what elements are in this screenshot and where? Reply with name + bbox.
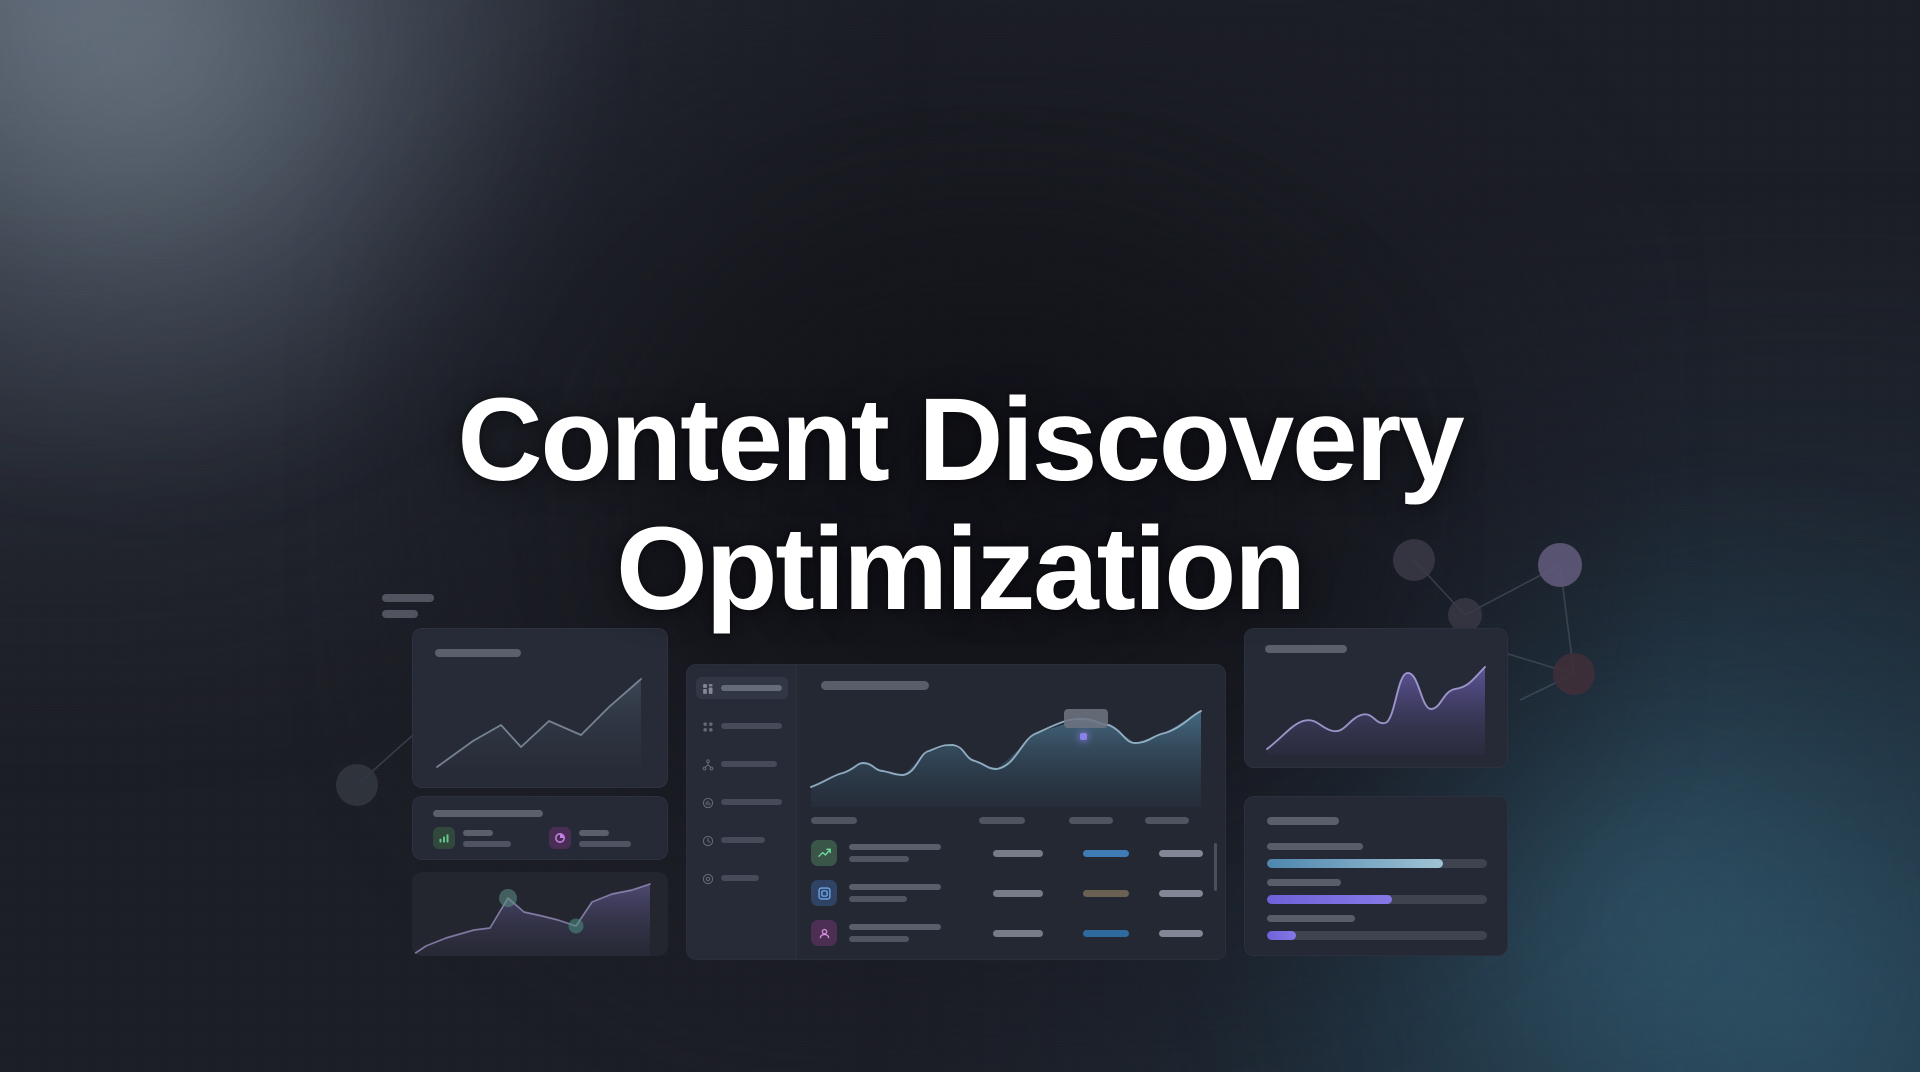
table-cell-2 [1083, 930, 1129, 937]
table-cell-1 [993, 850, 1043, 857]
progress-item-2-track [1267, 895, 1487, 904]
apps-grid-icon [702, 720, 714, 732]
dashboard-sidebar [687, 665, 797, 959]
table-row-subtitle [849, 896, 907, 902]
floating-skeleton-bar-1 [382, 594, 434, 602]
table-header-4 [1145, 817, 1189, 824]
main-dashboard-panel[interactable] [686, 664, 1226, 960]
table-row[interactable] [811, 871, 1215, 915]
sidebar-item-analytics-label [721, 799, 782, 805]
table-row[interactable] [811, 951, 1215, 960]
progress-item-1-fill [1267, 859, 1443, 868]
sidebar-item-apps[interactable] [696, 715, 788, 737]
stat-metric-1[interactable] [433, 827, 511, 849]
progress-item-1-track [1267, 859, 1487, 868]
table-cell-1 [993, 930, 1043, 937]
dashboard-mockup [0, 0, 1920, 1072]
sidebar-item-dashboard[interactable] [696, 677, 788, 699]
progress-item-3[interactable] [1267, 915, 1487, 940]
progress-item-2-label [1267, 879, 1341, 886]
pie-chart-icon [549, 827, 571, 849]
trending-up-icon [811, 840, 837, 866]
sidebar-item-history[interactable] [696, 829, 788, 851]
stat-metric-2[interactable] [549, 827, 631, 849]
vertical-scrollbar[interactable] [1214, 843, 1217, 891]
bar-chart-icon [433, 827, 455, 849]
sidebar-item-settings[interactable] [696, 867, 788, 889]
left-stats-card[interactable] [412, 796, 668, 860]
table-row-title [849, 884, 941, 890]
table-row-subtitle [849, 856, 909, 862]
chart-highlight-point[interactable] [1080, 733, 1087, 740]
content-header-placeholder [821, 681, 929, 690]
dashboard-grid-icon [702, 682, 714, 694]
progress-item-2-fill [1267, 895, 1392, 904]
right-progress-card-title-placeholder [1267, 817, 1339, 825]
stat-metric-1-lines [463, 830, 511, 847]
table-row-text [849, 844, 941, 862]
user-target-icon [811, 920, 837, 946]
left-chart-card[interactable] [412, 628, 668, 788]
stat-metric-2-label [579, 830, 609, 836]
table-row-title [849, 844, 941, 850]
table-header-3 [1069, 817, 1113, 824]
dashboard-content [797, 665, 1225, 959]
progress-item-1-label [1267, 843, 1363, 850]
floating-skeleton-bar-2 [382, 610, 418, 618]
sidebar-item-apps-label [721, 723, 782, 729]
progress-item-1[interactable] [1267, 843, 1487, 868]
table-cell-3 [1159, 850, 1203, 857]
main-traffic-chart[interactable] [805, 703, 1219, 807]
table-row-subtitle [849, 936, 909, 942]
table-row-text [849, 924, 941, 942]
sidebar-item-settings-label [721, 875, 759, 881]
hierarchy-icon [702, 758, 714, 770]
table-row[interactable] [811, 911, 1215, 955]
main-traffic-chart-svg [805, 703, 1226, 807]
sidebar-item-dashboard-label [721, 685, 782, 691]
left-bottom-area-chart-card[interactable] [412, 872, 668, 956]
left-bottom-purple-chart [412, 872, 668, 956]
table-row-title [849, 924, 941, 930]
table-cell-2 [1083, 850, 1129, 857]
table-row[interactable] [811, 831, 1215, 875]
table-cell-2 [1083, 890, 1129, 897]
stat-metric-1-value [463, 841, 511, 847]
table-row-text [849, 884, 941, 902]
progress-item-3-label [1267, 915, 1355, 922]
image-frame-icon [811, 880, 837, 906]
stat-metric-2-value [579, 841, 631, 847]
sidebar-item-hierarchy[interactable] [696, 753, 788, 775]
right-card-purple-chart [1245, 629, 1508, 768]
sidebar-item-hierarchy-label [721, 761, 777, 767]
clock-icon [702, 834, 714, 846]
stat-metric-1-label [463, 830, 493, 836]
sidebar-item-history-label [721, 837, 765, 843]
right-chart-card[interactable] [1244, 628, 1508, 768]
sidebar-item-analytics[interactable] [696, 791, 788, 813]
left-card-zigzag-chart [413, 629, 668, 788]
progress-item-3-track [1267, 931, 1487, 940]
right-progress-card[interactable] [1244, 796, 1508, 956]
table-cell-1 [993, 890, 1043, 897]
table-header-2 [979, 817, 1025, 824]
analytics-bars-icon [702, 796, 714, 808]
settings-gear-icon [702, 872, 714, 884]
progress-item-2[interactable] [1267, 879, 1487, 904]
left-stats-card-title-placeholder [433, 810, 543, 817]
table-cell-3 [1159, 890, 1203, 897]
stat-metric-2-lines [579, 830, 631, 847]
table-header-1 [811, 817, 857, 824]
progress-item-3-fill [1267, 931, 1296, 940]
chart-tooltip-badge [1064, 709, 1108, 728]
table-cell-3 [1159, 930, 1203, 937]
